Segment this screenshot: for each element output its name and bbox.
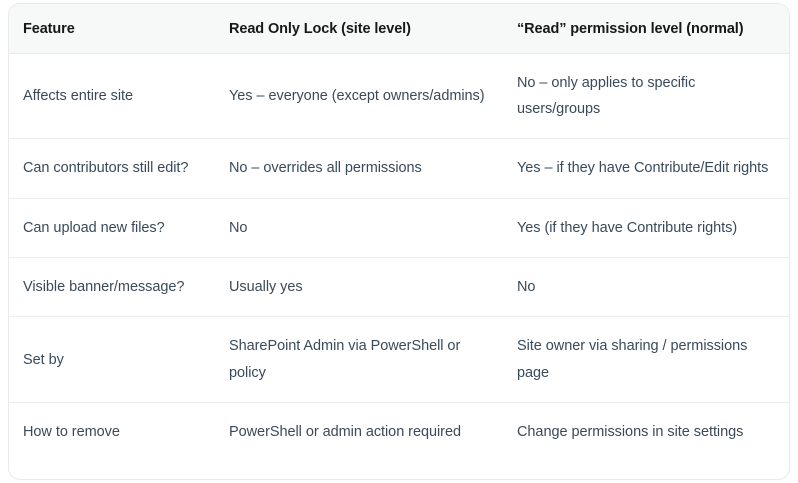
- table-body: Affects entire site Yes – everyone (exce…: [9, 53, 790, 462]
- cell-readperm: Yes (if they have Contribute rights): [503, 198, 790, 257]
- cell-readperm: No: [503, 258, 790, 317]
- cell-lock: PowerShell or admin action required: [215, 403, 503, 462]
- cell-feature: Can upload new files?: [9, 198, 215, 257]
- cell-readperm: Site owner via sharing / permissions pag…: [503, 317, 790, 403]
- feature-comparison-table: Feature Read Only Lock (site level) “Rea…: [9, 4, 790, 462]
- cell-feature: Visible banner/message?: [9, 258, 215, 317]
- cell-feature: How to remove: [9, 403, 215, 462]
- cell-feature: Can contributors still edit?: [9, 139, 215, 198]
- cell-lock: Yes – everyone (except owners/admins): [215, 53, 503, 139]
- cell-lock: Usually yes: [215, 258, 503, 317]
- table-header-row: Feature Read Only Lock (site level) “Rea…: [9, 4, 790, 53]
- table-row: Can contributors still edit? No – overri…: [9, 139, 790, 198]
- column-header-feature: Feature: [9, 4, 215, 53]
- comparison-table-container: Feature Read Only Lock (site level) “Rea…: [8, 3, 790, 480]
- table-row: Set by SharePoint Admin via PowerShell o…: [9, 317, 790, 403]
- cell-readperm: Change permissions in site settings: [503, 403, 790, 462]
- cell-readperm: No – only applies to specific users/grou…: [503, 53, 790, 139]
- cell-lock: No – overrides all permissions: [215, 139, 503, 198]
- cell-lock: No: [215, 198, 503, 257]
- table-row: How to remove PowerShell or admin action…: [9, 403, 790, 462]
- table-row: Affects entire site Yes – everyone (exce…: [9, 53, 790, 139]
- table-row: Visible banner/message? Usually yes No: [9, 258, 790, 317]
- column-header-read-only-lock: Read Only Lock (site level): [215, 4, 503, 53]
- cell-feature: Set by: [9, 317, 215, 403]
- cell-feature: Affects entire site: [9, 53, 215, 139]
- table-row: Can upload new files? No Yes (if they ha…: [9, 198, 790, 257]
- cell-readperm: Yes – if they have Contribute/Edit right…: [503, 139, 790, 198]
- cell-lock: SharePoint Admin via PowerShell or polic…: [215, 317, 503, 403]
- column-header-read-permission: “Read” permission level (normal): [503, 4, 790, 53]
- table-header: Feature Read Only Lock (site level) “Rea…: [9, 4, 790, 53]
